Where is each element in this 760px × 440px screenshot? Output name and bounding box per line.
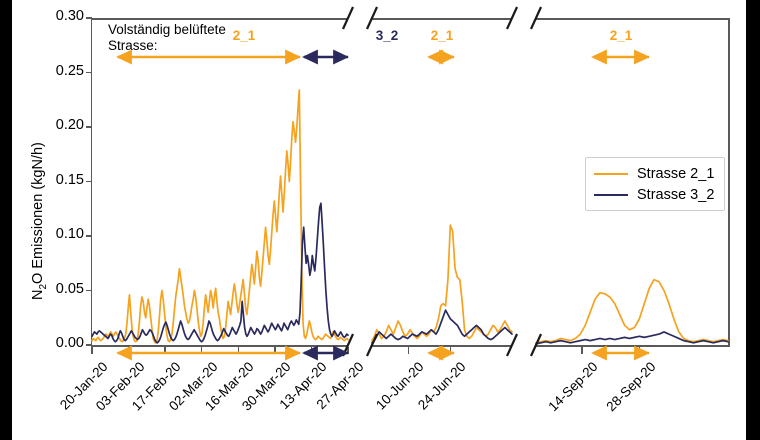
- chart-figure: N2O Emissionen (kgN/h) 0.000.050.100.150…: [12, 0, 746, 440]
- arrow-annotation-layer: [12, 0, 746, 440]
